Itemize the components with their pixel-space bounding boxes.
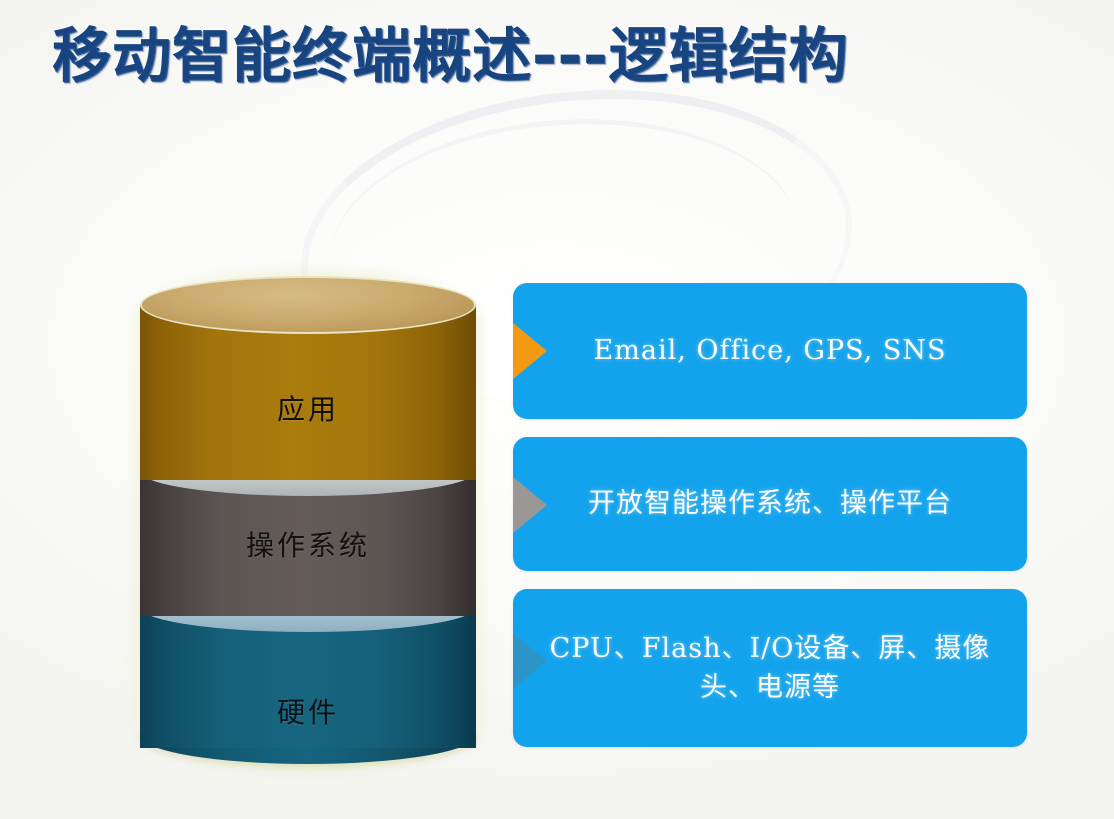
- pointer-triangle-hardware-icon: [513, 633, 547, 689]
- callout-group: Email, Office, GPS, SNS 开放智能操作系统、操作平台 CP…: [513, 283, 1027, 753]
- pointer-triangle-application-icon: [513, 323, 547, 379]
- slide-canvas: 移动智能终端概述---逻辑结构 硬件 操作系统 应用 Email, Office…: [0, 0, 1114, 819]
- callout-text-hardware: CPU、Flash、I/O设备、屏、摄像头、电源等: [547, 629, 993, 707]
- cylinder-cap-application: [140, 276, 476, 334]
- callout-application[interactable]: Email, Office, GPS, SNS: [513, 283, 1027, 419]
- callout-text-operating-system: 开放智能操作系统、操作平台: [588, 484, 952, 523]
- pointer-triangle-operating-system-icon: [513, 477, 547, 533]
- cylinder-label-operating-system: 操作系统: [140, 524, 476, 564]
- cylinder-label-application: 应用: [140, 388, 476, 428]
- callout-text-application: Email, Office, GPS, SNS: [594, 331, 947, 370]
- callout-hardware[interactable]: CPU、Flash、I/O设备、屏、摄像头、电源等: [513, 589, 1027, 747]
- cylinder-label-hardware: 硬件: [140, 691, 476, 731]
- page-title: 移动智能终端概述---逻辑结构: [52, 8, 1052, 93]
- callout-operating-system[interactable]: 开放智能操作系统、操作平台: [513, 437, 1027, 571]
- layered-cylinder-diagram: 硬件 操作系统 应用: [140, 276, 476, 764]
